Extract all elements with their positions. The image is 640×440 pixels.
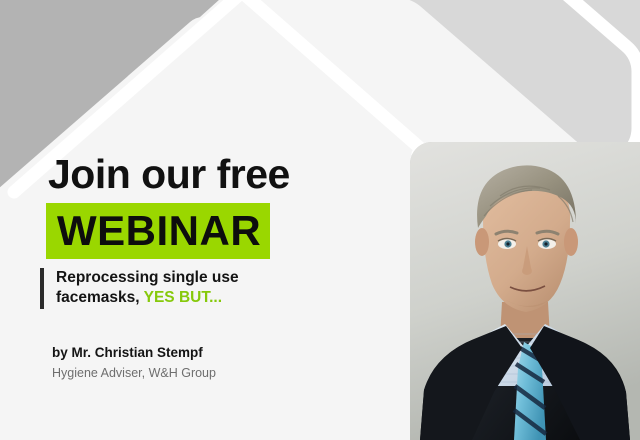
page-title: Join our free bbox=[48, 154, 290, 195]
portrait-eye-left bbox=[498, 239, 516, 250]
portrait-ear-right bbox=[564, 228, 578, 256]
highlight-wrapper: WEBINAR bbox=[46, 203, 270, 259]
byline-speaker-name: by Mr. Christian Stempf bbox=[52, 344, 216, 362]
subtitle-line-2-accent: YES BUT... bbox=[144, 289, 222, 306]
webinar-promo-banner: Join our free WEBINAR Reprocessing singl… bbox=[0, 0, 640, 440]
subtitle-line-1: Reprocessing single use bbox=[56, 269, 239, 286]
subtitle-text: Reprocessing single use facemasks, YES B… bbox=[56, 268, 239, 309]
byline: by Mr. Christian Stempf Hygiene Adviser,… bbox=[52, 344, 216, 382]
portrait-ear-left bbox=[475, 228, 489, 256]
speaker-portrait-panel bbox=[410, 142, 640, 440]
portrait-eye-right bbox=[538, 239, 556, 250]
byline-speaker-role: Hygiene Adviser, W&H Group bbox=[52, 364, 216, 382]
subtitle-block: Reprocessing single use facemasks, YES B… bbox=[40, 268, 239, 309]
speaker-portrait-image bbox=[410, 142, 640, 440]
webinar-highlight-badge: WEBINAR bbox=[46, 203, 270, 259]
content-panel: Join our free WEBINAR Reprocessing singl… bbox=[0, 0, 410, 440]
subtitle-accent-rule bbox=[40, 268, 44, 309]
subtitle-line-2-plain: facemasks, bbox=[56, 289, 144, 306]
